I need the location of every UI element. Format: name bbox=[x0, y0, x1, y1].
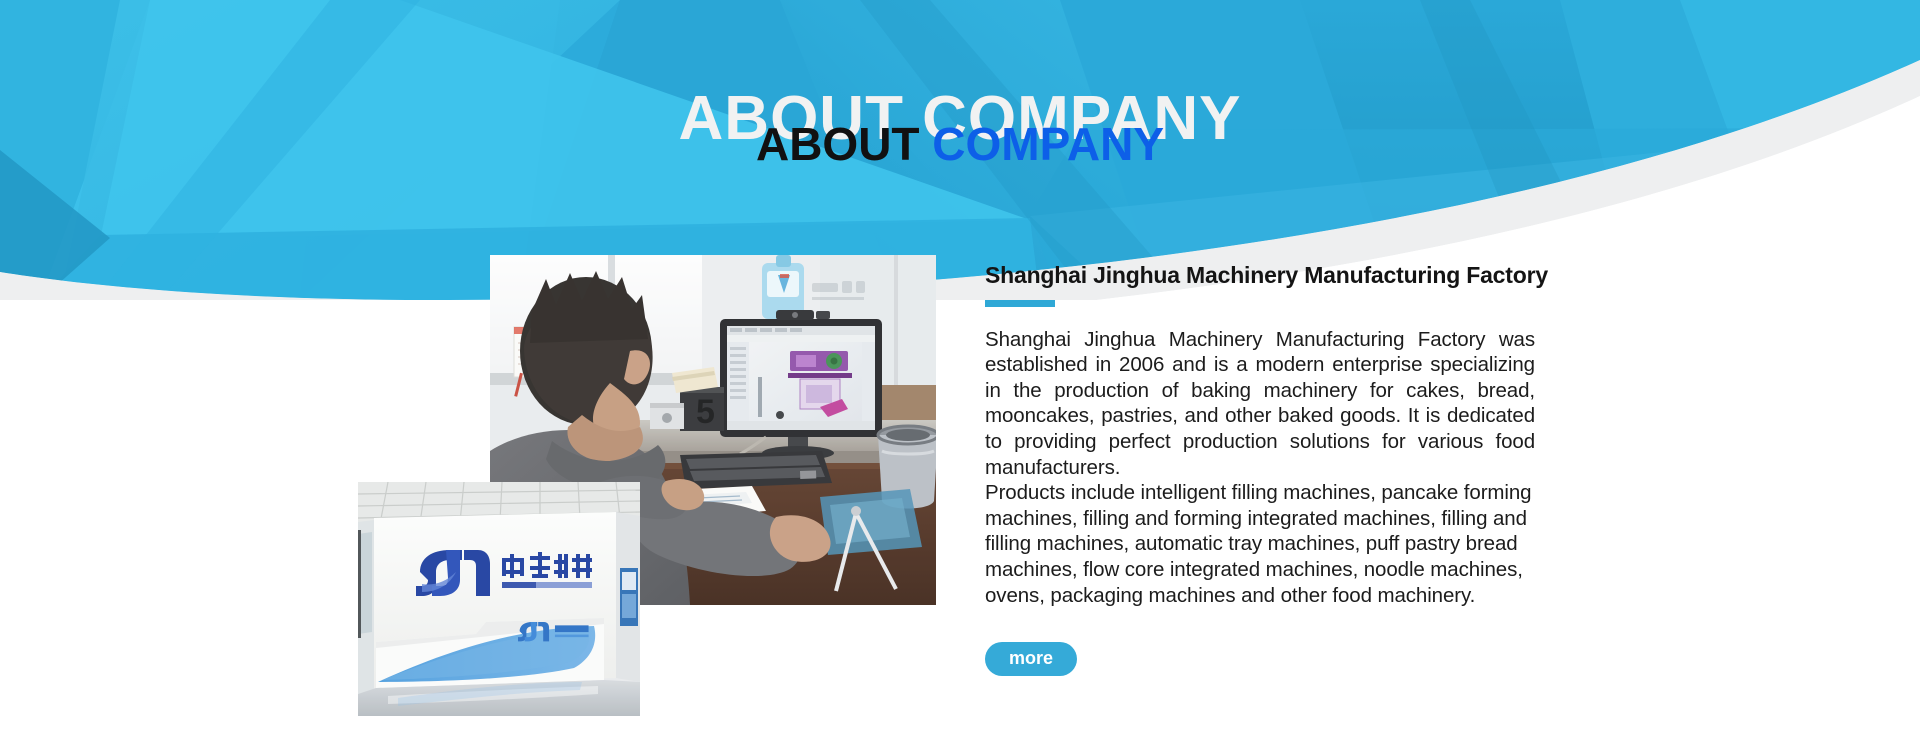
about-paragraph-2: Products include intelligent filling mac… bbox=[985, 480, 1535, 608]
page-title: ABOUT COMPANY bbox=[0, 118, 1920, 171]
section-title-block: ABOUT COMPANY ABOUT COMPANY bbox=[0, 88, 1920, 198]
page-title-primary: ABOUT bbox=[756, 118, 920, 170]
photo-company-lobby bbox=[358, 482, 640, 716]
about-content: Shanghai Jinghua Machinery Manufacturing… bbox=[985, 262, 1535, 676]
company-name-heading: Shanghai Jinghua Machinery Manufacturing… bbox=[985, 262, 1535, 290]
about-paragraph-1: Shanghai Jinghua Machinery Manufacturing… bbox=[985, 327, 1535, 481]
about-company-section: ABOUT COMPANY ABOUT COMPANY bbox=[0, 0, 1920, 741]
page-title-accent: COMPANY bbox=[932, 118, 1164, 170]
heading-accent-rule bbox=[985, 300, 1055, 307]
more-button[interactable]: more bbox=[985, 642, 1077, 676]
about-body-text: Shanghai Jinghua Machinery Manufacturing… bbox=[985, 327, 1535, 609]
page-title-space bbox=[920, 118, 933, 170]
